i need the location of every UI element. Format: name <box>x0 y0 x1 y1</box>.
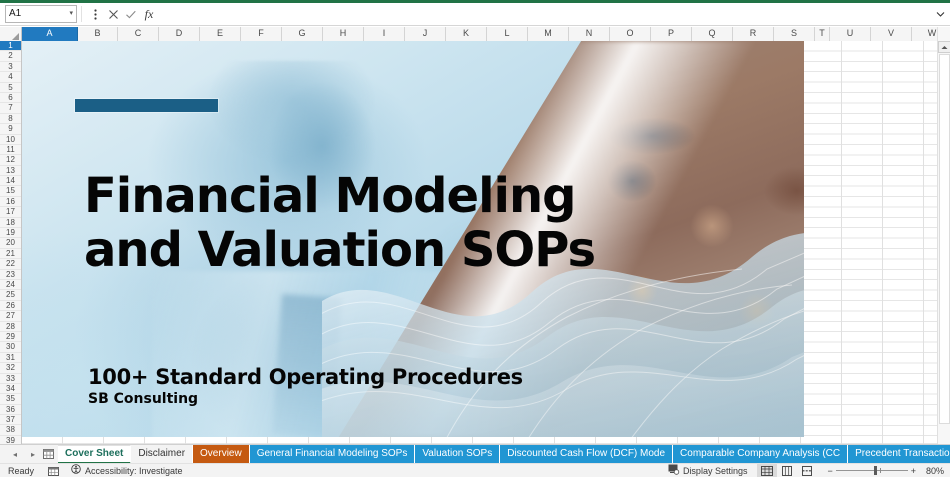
column-header-q[interactable]: Q <box>692 27 733 41</box>
row-header-18[interactable]: 18 <box>0 218 21 228</box>
sheet-nav-prev-icon[interactable]: ◂ <box>6 446 24 463</box>
row-header-33[interactable]: 33 <box>0 374 21 384</box>
row-header-39[interactable]: 39 <box>0 436 21 444</box>
row-header-28[interactable]: 28 <box>0 322 21 332</box>
sheet-tab-label: Discounted Cash Flow (DCF) Mode <box>507 445 665 463</box>
column-header-n[interactable]: N <box>569 27 610 41</box>
row-header-12[interactable]: 12 <box>0 155 21 165</box>
status-ready-label: Ready <box>8 466 34 476</box>
column-header-l[interactable]: L <box>487 27 528 41</box>
column-header-i[interactable]: I <box>364 27 405 41</box>
column-header-d[interactable]: D <box>159 27 200 41</box>
status-bar: Ready Accessibility: Investigate <box>0 463 950 477</box>
slide-accent-bar <box>75 99 218 112</box>
sheet-canvas[interactable]: Financial Modeling and Valuation SOPs 10… <box>22 41 950 444</box>
row-header-27[interactable]: 27 <box>0 311 21 321</box>
cancel-icon[interactable] <box>104 5 122 23</box>
row-header-2[interactable]: 2 <box>0 51 21 61</box>
all-sheets-icon[interactable] <box>43 446 54 463</box>
row-header-35[interactable]: 35 <box>0 394 21 404</box>
zoom-slider-knob[interactable] <box>874 466 877 475</box>
column-header-c[interactable]: C <box>118 27 159 41</box>
name-box[interactable]: A1 ▾ <box>5 5 77 23</box>
scroll-up-button[interactable] <box>938 41 950 53</box>
sheet-tab-cover-sheet[interactable]: Cover Sheet <box>58 445 131 464</box>
normal-view-icon[interactable] <box>757 464 777 477</box>
column-header-r[interactable]: R <box>733 27 774 41</box>
expand-formula-bar-icon[interactable] <box>932 5 948 23</box>
column-header-g[interactable]: G <box>282 27 323 41</box>
sheet-tab-label: Overview <box>200 445 242 463</box>
row-header-25[interactable]: 25 <box>0 290 21 300</box>
column-header-s[interactable]: S <box>774 27 815 41</box>
zoom-level-label[interactable]: 80% <box>922 466 944 476</box>
display-settings-label: Display Settings <box>683 466 748 476</box>
row-header-16[interactable]: 16 <box>0 197 21 207</box>
row-header-34[interactable]: 34 <box>0 384 21 394</box>
confirm-icon[interactable] <box>122 5 140 23</box>
formula-bar: A1 ▾ fx <box>0 3 950 26</box>
column-header-t[interactable]: T <box>815 27 830 41</box>
chevron-down-icon[interactable]: ▾ <box>69 6 73 22</box>
sheet-tab-disclaimer[interactable]: Disclaimer <box>131 445 193 464</box>
row-header-15[interactable]: 15 <box>0 186 21 196</box>
row-header-29[interactable]: 29 <box>0 332 21 342</box>
row-header-3[interactable]: 3 <box>0 62 21 72</box>
row-header-10[interactable]: 10 <box>0 135 21 145</box>
formula-input[interactable] <box>162 5 928 23</box>
page-layout-view-icon[interactable] <box>777 464 797 477</box>
column-header-o[interactable]: O <box>610 27 651 41</box>
accessibility-checker[interactable]: Accessibility: Investigate <box>71 464 183 477</box>
row-header-17[interactable]: 17 <box>0 207 21 217</box>
column-header-j[interactable]: J <box>405 27 446 41</box>
column-header-m[interactable]: M <box>528 27 569 41</box>
insert-function-icon[interactable]: fx <box>140 5 158 23</box>
zoom-slider[interactable]: − + <box>827 466 916 476</box>
row-header-26[interactable]: 26 <box>0 301 21 311</box>
sheet-tabs: Cover SheetDisclaimerOverviewGeneral Fin… <box>58 445 950 464</box>
sheet-nav-next-icon[interactable]: ▸ <box>24 446 42 463</box>
column-headers: ABCDEFGHIJKLMNOPQRSTUVW <box>0 27 950 41</box>
zoom-in-button[interactable]: + <box>911 466 916 476</box>
row-header-5[interactable]: 5 <box>0 83 21 93</box>
row-header-22[interactable]: 22 <box>0 259 21 269</box>
sheet-tab-label: Precedent Transaction Ana <box>855 445 950 463</box>
accessibility-icon <box>71 464 82 477</box>
sheet-tab-label: General Financial Modeling SOPs <box>257 445 408 463</box>
column-header-a[interactable]: A <box>22 27 78 41</box>
column-header-h[interactable]: H <box>323 27 364 41</box>
sheet-tab-general-financial-modeling-sops[interactable]: General Financial Modeling SOPs <box>250 445 416 464</box>
row-header-11[interactable]: 11 <box>0 145 21 155</box>
row-header-4[interactable]: 4 <box>0 72 21 82</box>
slide-organization: SB Consulting <box>88 391 198 407</box>
display-settings-button[interactable]: Display Settings <box>668 464 748 477</box>
row-header-24[interactable]: 24 <box>0 280 21 290</box>
row-header-1[interactable]: 1 <box>0 41 21 51</box>
divider <box>81 6 82 22</box>
sheet-tab-label: Disclaimer <box>138 445 185 463</box>
column-header-k[interactable]: K <box>446 27 487 41</box>
slide-subtitle: 100+ Standard Operating Procedures <box>88 365 523 389</box>
sheet-tab-bar: ◂ ▸ Cover SheetDisclaimerOverviewGeneral… <box>0 444 950 463</box>
row-header-23[interactable]: 23 <box>0 270 21 280</box>
row-header-14[interactable]: 14 <box>0 176 21 186</box>
excel-window: A1 ▾ fx <box>0 0 950 477</box>
row-header-31[interactable]: 31 <box>0 353 21 363</box>
column-header-f[interactable]: F <box>241 27 282 41</box>
column-header-b[interactable]: B <box>78 27 118 41</box>
page-break-preview-icon[interactable] <box>797 464 817 477</box>
accessibility-label: Accessibility: Investigate <box>85 466 183 476</box>
sheet-tab-valuation-sops[interactable]: Valuation SOPs <box>415 445 500 464</box>
sheet-tab-label: Comparable Company Analysis (CC <box>680 445 840 463</box>
zoom-slider-midpoint <box>880 468 881 473</box>
row-header-9[interactable]: 9 <box>0 124 21 134</box>
sheet-tab-precedent-transaction-ana[interactable]: Precedent Transaction Ana <box>848 445 950 464</box>
display-settings-icon <box>668 464 680 477</box>
row-header-30[interactable]: 30 <box>0 342 21 352</box>
row-header-13[interactable]: 13 <box>0 166 21 176</box>
vertical-scrollbar[interactable] <box>937 27 950 444</box>
row-header-37[interactable]: 37 <box>0 415 21 425</box>
row-header-32[interactable]: 32 <box>0 363 21 373</box>
row-header-21[interactable]: 21 <box>0 249 21 259</box>
row-header-36[interactable]: 36 <box>0 405 21 415</box>
spreadsheet-grid: ABCDEFGHIJKLMNOPQRSTUVW 1234567891011121… <box>0 27 950 444</box>
view-mode-buttons <box>757 464 817 477</box>
row-header-8[interactable]: 8 <box>0 114 21 124</box>
sheet-tab-comparable-company-analysis-cc[interactable]: Comparable Company Analysis (CC <box>673 445 848 464</box>
more-options-icon[interactable] <box>86 5 104 23</box>
row-header-7[interactable]: 7 <box>0 103 21 113</box>
vertical-scrollbar-thumb[interactable] <box>939 54 950 424</box>
name-box-value: A1 <box>9 6 21 22</box>
column-header-p[interactable]: P <box>651 27 692 41</box>
row-header-19[interactable]: 19 <box>0 228 21 238</box>
column-header-e[interactable]: E <box>200 27 241 41</box>
zoom-slider-track[interactable] <box>836 470 908 471</box>
sheet-tab-discounted-cash-flow-dcf-mode[interactable]: Discounted Cash Flow (DCF) Mode <box>500 445 673 464</box>
row-header-38[interactable]: 38 <box>0 425 21 435</box>
sheet-tab-overview[interactable]: Overview <box>193 445 250 464</box>
column-header-u[interactable]: U <box>830 27 871 41</box>
zoom-out-button[interactable]: − <box>827 466 832 476</box>
row-header-6[interactable]: 6 <box>0 93 21 103</box>
sheet-nav-arrows: ◂ ▸ <box>6 446 42 463</box>
row-headers: 1234567891011121314151617181920212223242… <box>0 41 22 444</box>
sheet-tab-label: Cover Sheet <box>65 445 123 463</box>
cover-slide-image[interactable]: Financial Modeling and Valuation SOPs 10… <box>22 41 804 437</box>
slide-title: Financial Modeling and Valuation SOPs <box>84 169 604 277</box>
column-header-v[interactable]: V <box>871 27 912 41</box>
record-macro-icon[interactable] <box>48 466 59 476</box>
select-all-corner-icon[interactable] <box>0 27 22 41</box>
row-header-20[interactable]: 20 <box>0 238 21 248</box>
sheet-tab-label: Valuation SOPs <box>422 445 492 463</box>
